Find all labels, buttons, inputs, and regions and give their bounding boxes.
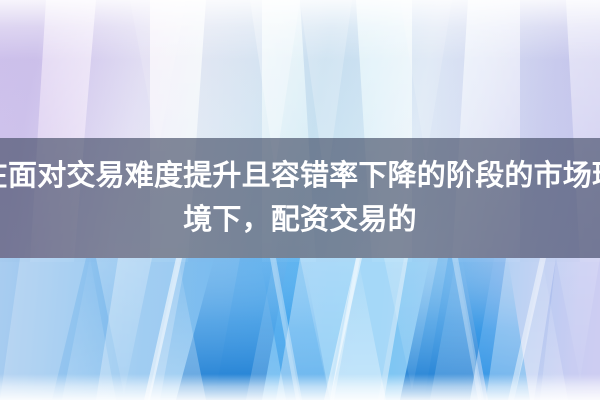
- bottom-white-fade: [0, 374, 600, 400]
- overlay-text-line-1: 在面对交易难度提升且容错率下降的阶段的市场环: [0, 154, 600, 198]
- overlay-text-band: 在面对交易难度提升且容错率下降的阶段的市场环 境下，配资交易的: [0, 138, 600, 258]
- top-sheen-overlay: [0, 0, 600, 60]
- overlay-text-line-2: 境下，配资交易的: [183, 198, 417, 242]
- decorative-banner: 在面对交易难度提升且容错率下降的阶段的市场环 境下，配资交易的: [0, 0, 600, 400]
